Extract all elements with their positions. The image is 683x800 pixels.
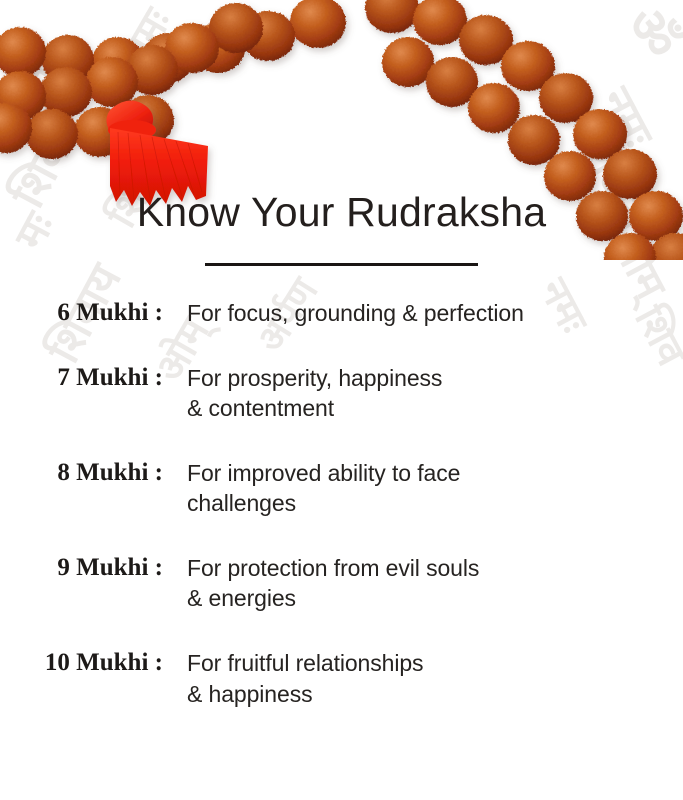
mukhi-description-line1: For improved ability to face	[187, 460, 460, 486]
mukhi-label: 8 Mukhi :	[0, 458, 163, 488]
mukhi-description-line1: For fruitful relationships	[187, 650, 423, 676]
mukhi-description: For protection from evil souls& energies	[163, 553, 683, 614]
mukhi-row: 9 Mukhi :For protection from evil souls&…	[0, 553, 683, 614]
mukhi-label: 10 Mukhi :	[0, 648, 163, 678]
mukhi-description: For fruitful relationships& happiness	[163, 648, 683, 709]
mukhi-description-line2: & contentment	[187, 393, 683, 424]
mukhi-description-line2: & happiness	[187, 679, 683, 710]
mukhi-label: 9 Mukhi :	[0, 553, 163, 583]
mukhi-row: 7 Mukhi :For prosperity, happiness& cont…	[0, 363, 683, 424]
mukhi-row: 6 Mukhi :For focus, grounding & perfecti…	[0, 298, 683, 329]
mukhi-description-line1: For protection from evil souls	[187, 555, 479, 581]
mukhi-row: 8 Mukhi :For improved ability to facecha…	[0, 458, 683, 519]
mukhi-description: For prosperity, happiness& contentment	[163, 363, 683, 424]
title-divider	[205, 263, 478, 266]
mukhi-description-line1: For prosperity, happiness	[187, 365, 442, 391]
mukhi-label: 6 Mukhi :	[0, 298, 163, 328]
mukhi-label: 7 Mukhi :	[0, 363, 163, 393]
mukhi-description-line2: challenges	[187, 488, 683, 519]
mukhi-description: For focus, grounding & perfection	[163, 298, 683, 329]
mukhi-list: 6 Mukhi :For focus, grounding & perfecti…	[0, 298, 683, 743]
mukhi-row: 10 Mukhi :For fruitful relationships& ha…	[0, 648, 683, 709]
rudraksha-infographic: शिवमःनमःशिवायनमःशिवओम्ॐनमःशिवायओम्नमःशिव…	[0, 0, 683, 800]
page-title: Know Your Rudraksha	[0, 189, 683, 236]
mukhi-description-line1: For focus, grounding & perfection	[187, 300, 524, 326]
mukhi-description: For improved ability to facechallenges	[163, 458, 683, 519]
content-area: Know Your Rudraksha 6 Mukhi :For focus, …	[0, 0, 683, 800]
mukhi-description-line2: & energies	[187, 583, 683, 614]
